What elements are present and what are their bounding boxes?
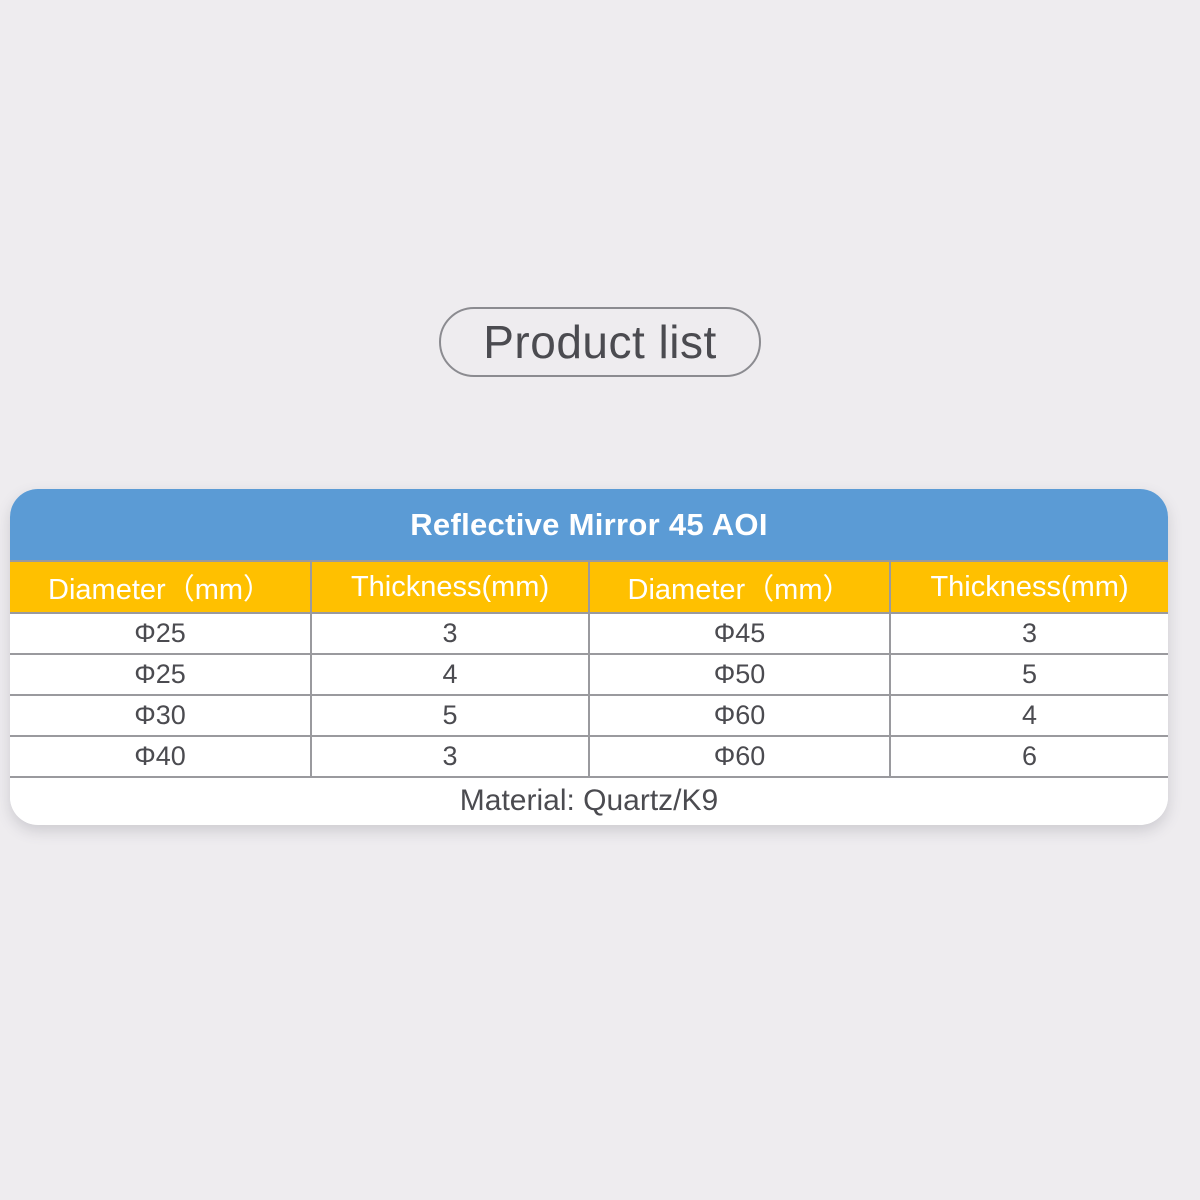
cell-thickness-left: 3 (311, 736, 589, 777)
cell-thickness-left: 4 (311, 654, 589, 695)
cell-thickness-right: 5 (890, 654, 1168, 695)
card-header: Reflective Mirror 45 AOI (10, 489, 1168, 562)
card-footer: Material: Quartz/K9 (10, 778, 1168, 824)
cell-diameter-right: Φ50 (589, 654, 890, 695)
table-row: Φ40 3 Φ60 6 (10, 736, 1168, 777)
cell-diameter-left: Φ40 (10, 736, 311, 777)
page-title-container: Product list (0, 307, 1200, 377)
column-header-thickness-right: Thickness(mm) (890, 562, 1168, 613)
page-title-pill: Product list (439, 307, 761, 377)
table-header-row: Diameter（mm） Thickness(mm) Diameter（mm） … (10, 562, 1168, 613)
cell-thickness-left: 3 (311, 613, 589, 654)
table-body: Φ25 3 Φ45 3 Φ25 4 Φ50 5 Φ30 5 Φ60 4 Φ40 … (10, 613, 1168, 777)
card-header-title: Reflective Mirror 45 AOI (410, 507, 768, 543)
column-header-diameter-right: Diameter（mm） (589, 562, 890, 613)
table-head: Diameter（mm） Thickness(mm) Diameter（mm） … (10, 562, 1168, 613)
material-note: Material: Quartz/K9 (460, 784, 718, 818)
cell-thickness-right: 3 (890, 613, 1168, 654)
cell-diameter-right: Φ60 (589, 695, 890, 736)
cell-thickness-right: 6 (890, 736, 1168, 777)
cell-diameter-right: Φ45 (589, 613, 890, 654)
specification-table: Diameter（mm） Thickness(mm) Diameter（mm） … (10, 562, 1168, 778)
product-list-card: Reflective Mirror 45 AOI Diameter（mm） Th… (10, 489, 1168, 825)
cell-thickness-right: 4 (890, 695, 1168, 736)
column-header-diameter-left: Diameter（mm） (10, 562, 311, 613)
cell-diameter-left: Φ30 (10, 695, 311, 736)
cell-thickness-left: 5 (311, 695, 589, 736)
cell-diameter-right: Φ60 (589, 736, 890, 777)
cell-diameter-left: Φ25 (10, 654, 311, 695)
cell-diameter-left: Φ25 (10, 613, 311, 654)
page-title: Product list (483, 319, 717, 365)
column-header-thickness-left: Thickness(mm) (311, 562, 589, 613)
table-row: Φ25 4 Φ50 5 (10, 654, 1168, 695)
table-row: Φ25 3 Φ45 3 (10, 613, 1168, 654)
table-row: Φ30 5 Φ60 4 (10, 695, 1168, 736)
